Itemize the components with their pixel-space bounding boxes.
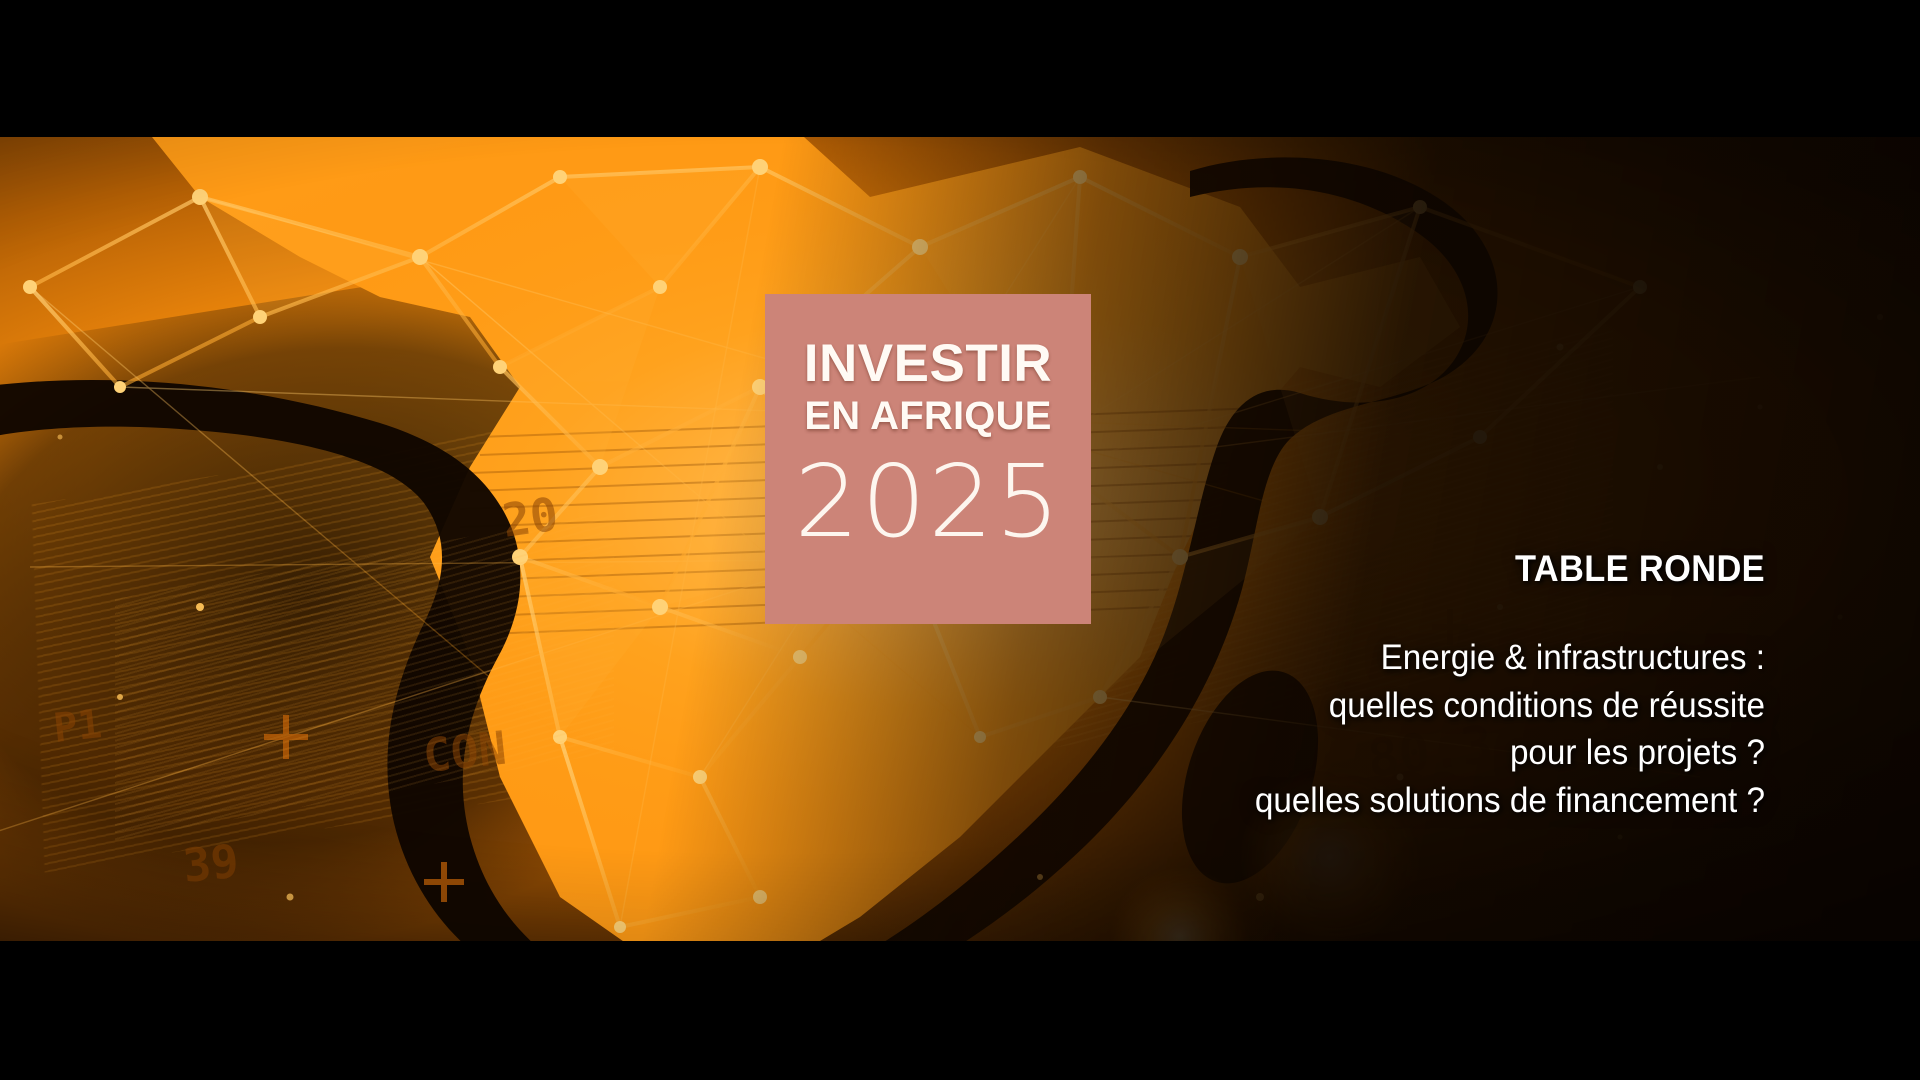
logo-title-line1: INVESTIR xyxy=(804,338,1052,390)
slide-stage: 20 CON 80.3 39 DEAL P1 xyxy=(0,0,1920,1080)
letterbox-top xyxy=(0,0,1920,137)
session-subject: Energie & infrastructures : quelles cond… xyxy=(1043,634,1765,824)
session-copy-block: TABLE RONDE Energie & infrastructures : … xyxy=(1005,548,1765,824)
logo-title-line2: EN AFRIQUE xyxy=(804,390,1051,442)
letterbox-bottom xyxy=(0,941,1920,1080)
session-subject-line-1: Energie & infrastructures : xyxy=(1043,634,1765,682)
session-subject-line-4: quelles solutions de financement ? xyxy=(1043,777,1765,825)
logo-year: 2025 xyxy=(794,452,1062,552)
session-kicker: TABLE RONDE xyxy=(1058,548,1765,590)
session-subject-line-3: pour les projets ? xyxy=(1043,729,1765,777)
session-subject-line-2: quelles conditions de réussite xyxy=(1043,682,1765,730)
